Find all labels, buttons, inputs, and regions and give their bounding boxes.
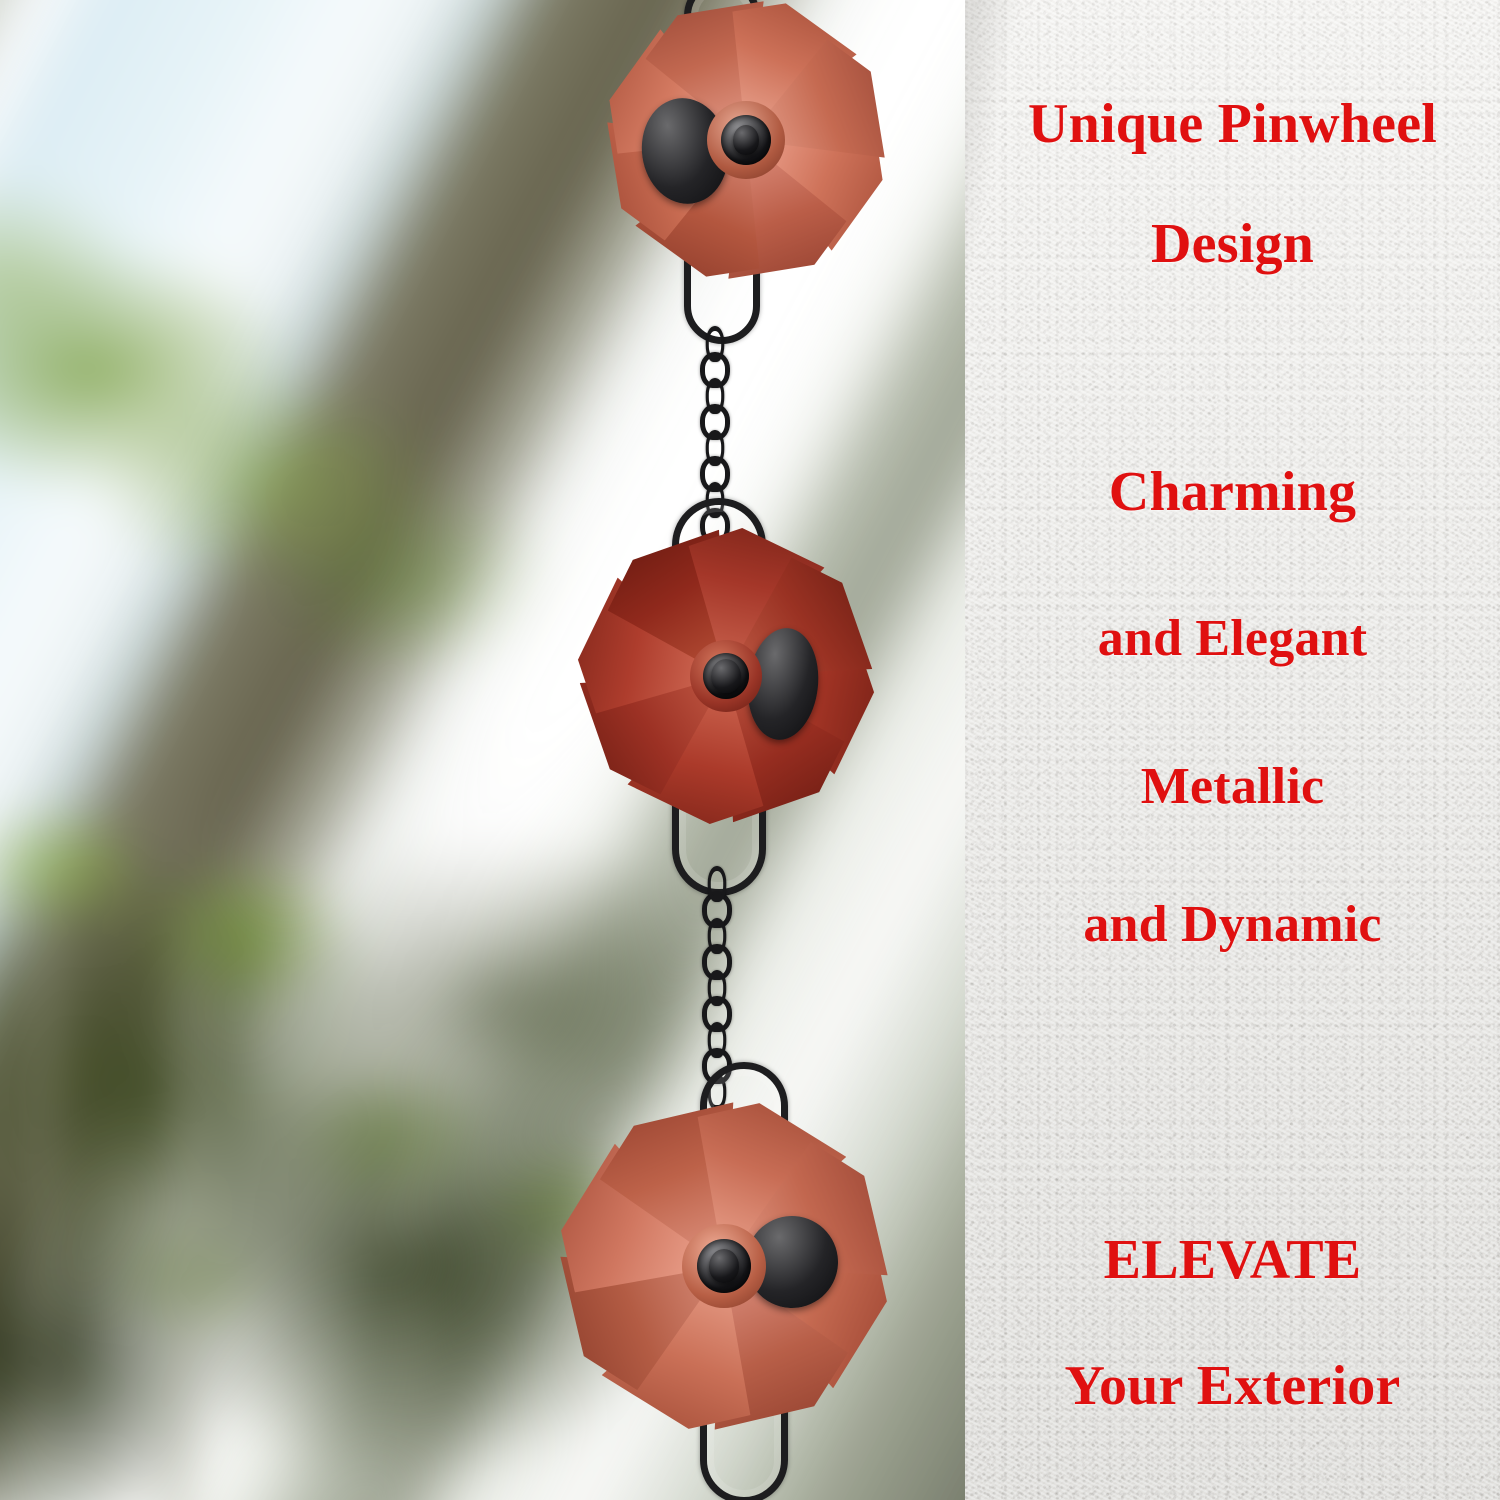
pinwheel-top-unit bbox=[612, 0, 852, 378]
chain-link bbox=[706, 326, 725, 362]
marketing-text-panel: Unique Pinwheel Design Charming and Eleg… bbox=[965, 0, 1500, 1500]
headline-line-3: Charming bbox=[965, 464, 1500, 521]
headline-line-1: Unique Pinwheel bbox=[965, 96, 1500, 153]
chain-link bbox=[706, 378, 725, 414]
pinwheel-middle-unit bbox=[600, 498, 860, 918]
hub-cap bbox=[709, 1249, 739, 1283]
chain-link bbox=[708, 1022, 727, 1058]
headline-line-4: and Elegant bbox=[965, 612, 1500, 665]
pinwheel-bottom-unit bbox=[560, 1062, 880, 1500]
pinwheel-bottom bbox=[574, 1116, 874, 1416]
hub-cap bbox=[711, 659, 741, 693]
chain-link bbox=[708, 918, 727, 954]
chain-link bbox=[706, 430, 725, 466]
headline-line-8: Your Exterior bbox=[965, 1358, 1500, 1415]
headline-line-2: Design bbox=[965, 216, 1500, 273]
pinwheel-assembly bbox=[0, 0, 965, 1500]
pinwheel-top bbox=[618, 12, 874, 268]
pinwheel-middle bbox=[592, 542, 860, 810]
chain-link bbox=[708, 970, 727, 1006]
product-marketing-image: Unique Pinwheel Design Charming and Eleg… bbox=[0, 0, 1500, 1500]
headline-line-6: and Dynamic bbox=[965, 898, 1500, 951]
product-photo bbox=[0, 0, 965, 1500]
chain-link bbox=[708, 866, 727, 902]
marketing-copy: Unique Pinwheel Design Charming and Eleg… bbox=[965, 0, 1500, 1500]
hub-cap bbox=[733, 125, 759, 155]
headline-line-5: Metallic bbox=[965, 760, 1500, 813]
headline-line-7: ELEVATE bbox=[965, 1232, 1500, 1289]
